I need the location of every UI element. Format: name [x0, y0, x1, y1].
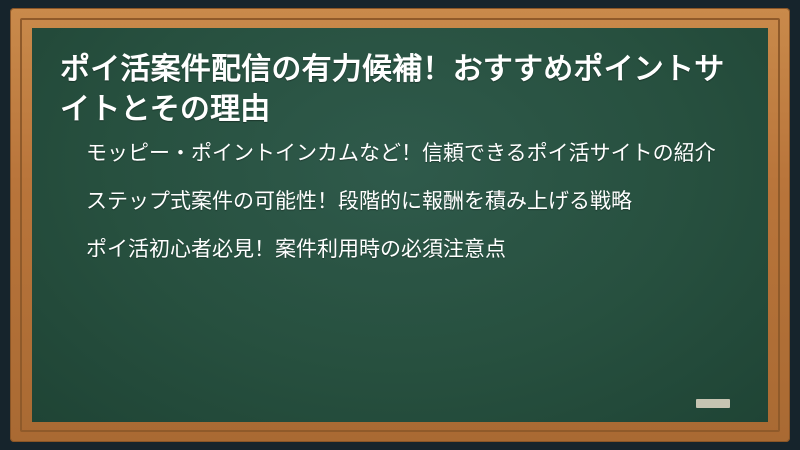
blackboard-frame: ポイ活案件配信の有力候補！おすすめポイントサイトとその理由 モッピー・ポイントイ… [10, 8, 790, 442]
slide-canvas: ポイ活案件配信の有力候補！おすすめポイントサイトとその理由 モッピー・ポイントイ… [0, 0, 800, 450]
list-item: ポイ活初心者必見！案件利用時の必須注意点 [86, 235, 730, 265]
list-item: モッピー・ポイントインカムなど！信頼できるポイ活サイトの紹介 [86, 139, 730, 169]
blackboard-surface: ポイ活案件配信の有力候補！おすすめポイントサイトとその理由 モッピー・ポイントイ… [32, 28, 768, 422]
bullet-list: モッピー・ポイントインカムなど！信頼できるポイ活サイトの紹介 ステップ式案件の可… [60, 139, 740, 264]
chalk-stick-icon [696, 399, 730, 408]
page-title: ポイ活案件配信の有力候補！おすすめポイントサイトとその理由 [60, 50, 740, 129]
list-item: ステップ式案件の可能性！段階的に報酬を積み上げる戦略 [86, 187, 730, 217]
